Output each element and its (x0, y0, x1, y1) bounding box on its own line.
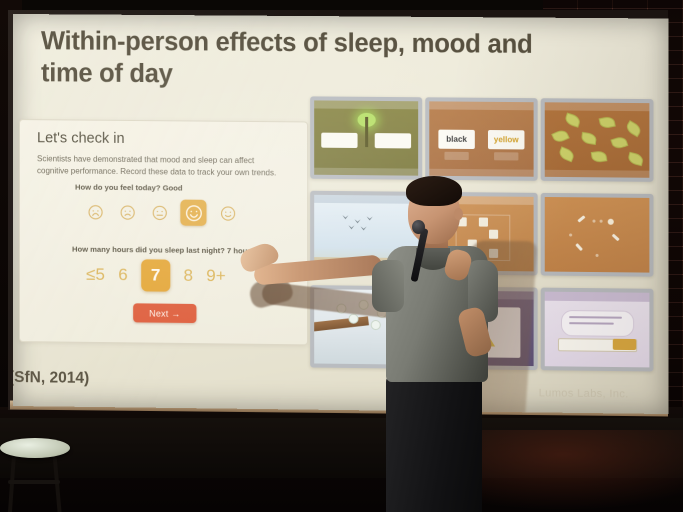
submit-button[interactable] (613, 339, 636, 350)
presenter (236, 168, 506, 512)
bar-stool (0, 438, 72, 512)
sleep-option-4[interactable]: 9+ (206, 266, 225, 286)
thumb-top-bar (545, 102, 650, 111)
leaf-icon (581, 132, 598, 145)
mood-option-neutral[interactable] (148, 201, 170, 223)
photo-scene: Within-person effects of sleep, mood and… (0, 0, 683, 512)
clock-tick-icon (577, 215, 585, 222)
thumbnail-word-recall-game[interactable] (541, 288, 654, 372)
mood-option-happy[interactable] (180, 200, 206, 226)
mood-option-row[interactable] (84, 199, 239, 227)
clock-dot-icon (569, 233, 572, 236)
presenter-ear (454, 208, 463, 220)
clock-dot-icon (592, 220, 595, 223)
next-button[interactable]: Next → (133, 303, 196, 323)
stroop-word-left: black (438, 130, 474, 149)
clock-tick-icon (576, 243, 583, 251)
stool-footrest (8, 480, 60, 484)
thumbnail-leaf-counting-game[interactable] (541, 98, 654, 182)
sleep-option-3[interactable]: 8 (181, 266, 195, 286)
balance-pan-right (375, 133, 411, 148)
leaf-icon (551, 128, 570, 144)
slide-title: Within-person effects of sleep, mood and… (41, 26, 590, 94)
leaf-icon (610, 135, 628, 150)
sleep-option-2[interactable]: 7 (141, 259, 170, 291)
stroop-sub-right (494, 152, 518, 160)
microphone-head (412, 220, 425, 234)
clock-target-dot (608, 219, 614, 225)
thumb-footer-bar (545, 170, 650, 178)
clock-tick-icon (612, 234, 620, 241)
slide-footer-logo: Lumos Labs, Inc. (539, 387, 629, 400)
presenter-left-sleeve (372, 260, 404, 312)
tree-trunk-icon (365, 117, 368, 147)
mood-option-very-sad[interactable] (84, 201, 106, 223)
leaf-icon (564, 112, 582, 127)
presenter-hair (406, 176, 462, 206)
thumb-top-bar (545, 292, 650, 302)
clock-dot-icon (596, 254, 599, 257)
slide-citation: (SfN, 2014) (13, 369, 89, 388)
thumbnail-clock-radial-game[interactable] (541, 193, 654, 277)
thumb-top-bar (314, 100, 418, 109)
mood-option-sad[interactable] (116, 201, 138, 223)
stool-seat (0, 438, 70, 458)
leaf-icon (624, 120, 643, 137)
leaf-icon (591, 150, 608, 163)
leaf-icon (627, 152, 645, 167)
sleep-question-label: How many hours did you sleep last night?… (72, 245, 255, 256)
sleep-option-row[interactable]: ≤5 6 7 8 9+ (86, 259, 226, 293)
stroop-word-right: yellow (488, 130, 524, 149)
sleep-option-1[interactable]: 6 (116, 265, 130, 285)
clock-dot-icon (600, 220, 603, 223)
stroop-sub-left (444, 152, 468, 160)
sleep-option-0[interactable]: ≤5 (86, 265, 105, 285)
thumb-top-bar (429, 101, 533, 110)
leaf-icon (557, 146, 575, 162)
balance-pan-left (321, 133, 357, 148)
mood-question-label: How do you feel today? Good (75, 183, 182, 193)
card-heading: Let's check in (37, 130, 125, 147)
presenter-legs (386, 372, 482, 512)
leaf-icon (599, 116, 616, 130)
